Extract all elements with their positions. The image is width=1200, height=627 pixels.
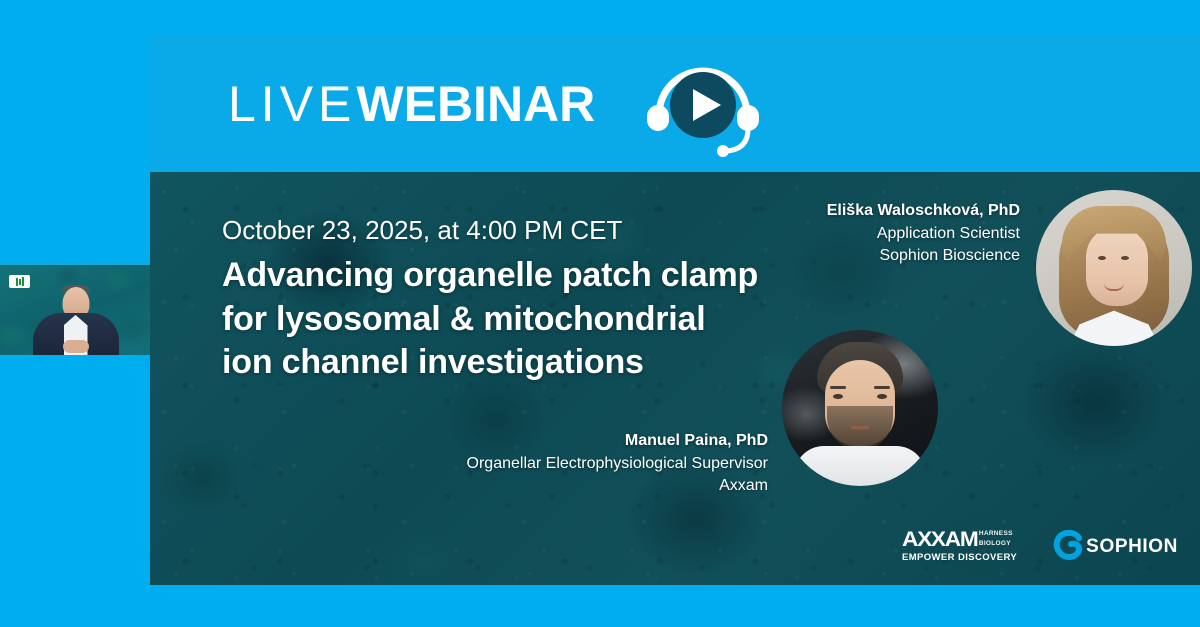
webinar-title: Advancing organelle patch clamp for lyso… [222,254,762,385]
portrait-brow-left [830,386,846,389]
slide-text-block: October 23, 2025, at 4:00 PM CET Advanci… [222,216,762,385]
portrait-eye-left [1098,256,1106,260]
presenter-video-thumbnail[interactable] [0,264,152,356]
axxam-logo: AXXAM HARNESS BIOLOGY EMPOWER DISCOVERY [902,529,1017,563]
headset-play-icon [637,49,769,159]
webinar-date: October 23, 2025, at 4:00 PM CET [222,216,762,245]
portrait-brow-right [874,386,890,389]
speaker-manuel: Manuel Paina, PhD Organellar Electrophys… [782,330,938,486]
slide-header-band: LIVEWEBINAR [150,35,1200,172]
axxam-mark: AXXAM HARNESS BIOLOGY [902,529,1017,550]
speaker-name: Manuel Paina, PhD [438,430,768,453]
axxam-tagline-harness: HARNESS [979,530,1013,540]
speaker-eliska-info: Eliška Waloschková, PhD Application Scie… [760,200,1020,268]
webinar-label: WEBINAR [356,76,595,132]
webinar-slide: LIVEWEBINAR October 23, 2025, [150,35,1200,585]
axxam-wordmark: AXXAM [902,529,977,550]
portrait-face [1086,226,1148,306]
video-indicator-icon [9,275,30,288]
presenter-hands [63,340,89,353]
slide-body-microscopy: October 23, 2025, at 4:00 PM CET Advanci… [150,172,1200,585]
sophion-logo: SOPHION [1053,529,1178,563]
axxam-tagline-stack: HARNESS BIOLOGY [979,530,1013,551]
portrait-shirt [794,446,926,486]
portrait-eye-right [1121,256,1129,260]
axxam-tagline-biology: BIOLOGY [979,540,1013,550]
sophion-wordmark: SOPHION [1086,537,1178,556]
portrait-eye-right [877,394,887,399]
speaker-organization: Axxam [438,475,768,498]
speaker-name: Eliška Waloschková, PhD [760,200,1020,223]
speaker-manuel-info: Manuel Paina, PhD Organellar Electrophys… [438,430,768,498]
speaker-role: Organellar Electrophysiological Supervis… [438,453,768,476]
speaker-role: Application Scientist [760,223,1020,246]
speaker-portrait-eliska [1036,190,1192,346]
speaker-portrait-manuel [782,330,938,486]
speaker-eliska: Eliška Waloschková, PhD Application Scie… [1036,190,1192,346]
live-webinar-heading: LIVEWEBINAR [228,79,595,129]
webinar-promo-screen: LIVEWEBINAR October 23, 2025, [0,0,1200,627]
portrait-eye-left [833,394,843,399]
speaker-organization: Sophion Bioscience [760,245,1020,268]
axxam-tagline-empower-discovery: EMPOWER DISCOVERY [902,553,1017,563]
sophion-mark-icon [1053,529,1083,563]
live-label: LIVE [228,76,356,132]
logo-row: AXXAM HARNESS BIOLOGY EMPOWER DISCOVERY … [902,529,1178,563]
portrait-mouth [851,426,869,429]
